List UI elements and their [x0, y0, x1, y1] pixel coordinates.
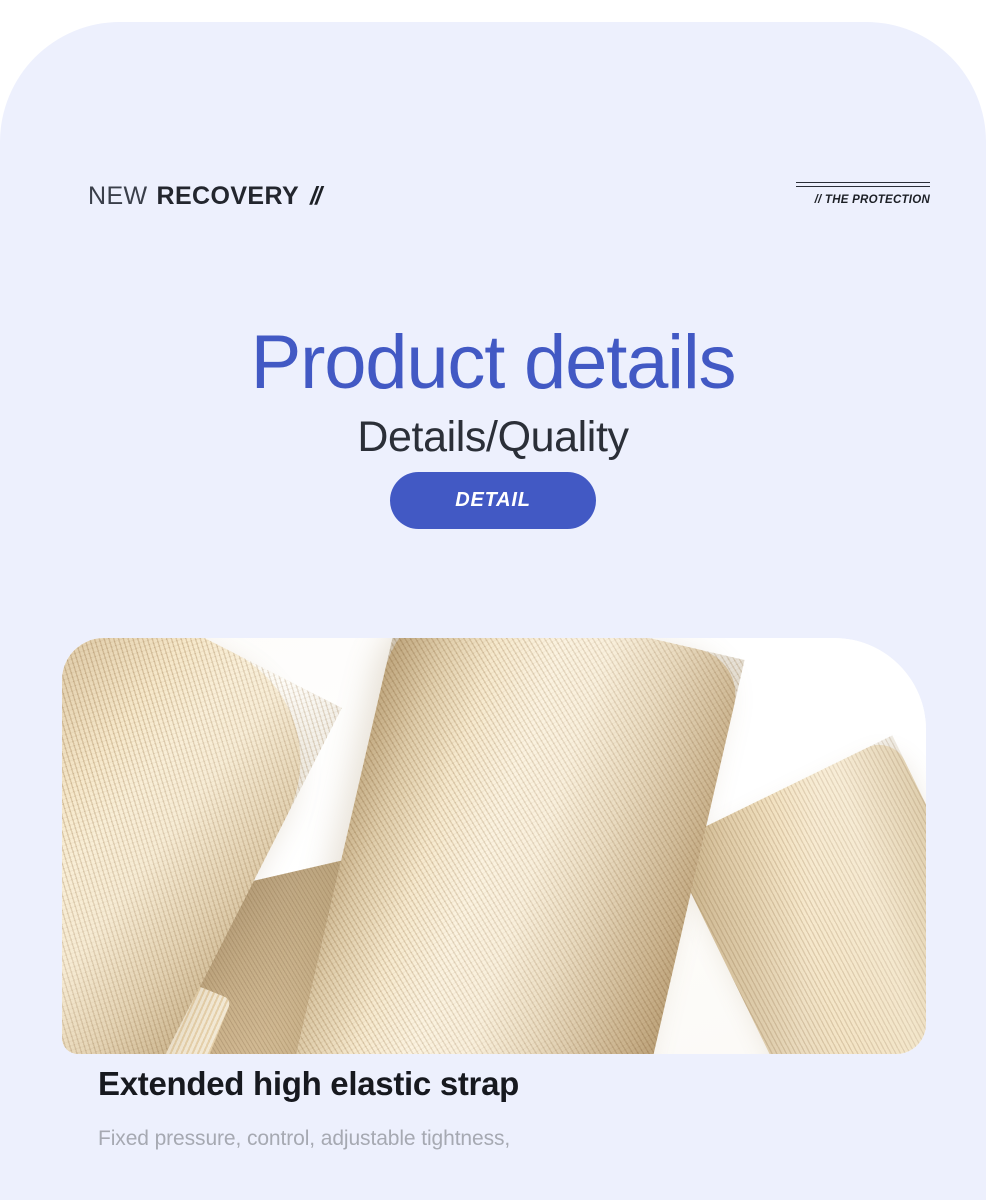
double-rule-divider [796, 182, 930, 187]
cta-container: DETAIL [0, 472, 986, 529]
strap-band-center [271, 638, 745, 1054]
eyebrow-row: NEW RECOVERY // // THE PROTECTION [0, 182, 986, 242]
detail-button[interactable]: DETAIL [390, 472, 596, 529]
product-detail-page: NEW RECOVERY // // THE PROTECTION Produc… [0, 0, 986, 1200]
protection-tag-label: // THE PROTECTION [796, 194, 930, 206]
rule-line-bottom [796, 186, 930, 187]
double-slash-icon: // [310, 182, 320, 211]
eyebrow-word-recovery: RECOVERY [157, 182, 300, 211]
rule-line-top [796, 182, 930, 183]
content-panel: NEW RECOVERY // // THE PROTECTION Produc… [0, 22, 986, 1200]
product-image-backdrop [62, 638, 926, 1054]
strap-knit-texture-center [271, 638, 745, 1054]
feature-description: Fixed pressure, control, adjustable tigh… [98, 1126, 510, 1151]
page-title: Product details [0, 325, 986, 401]
protection-tag: // THE PROTECTION [796, 182, 930, 206]
brand-eyebrow: NEW RECOVERY // [88, 182, 320, 211]
feature-title: Extended high elastic strap [98, 1066, 519, 1102]
page-subtitle: Details/Quality [0, 416, 986, 459]
product-image[interactable] [62, 638, 926, 1054]
eyebrow-word-new: NEW [88, 182, 148, 211]
strap-shading-center [271, 638, 745, 1054]
